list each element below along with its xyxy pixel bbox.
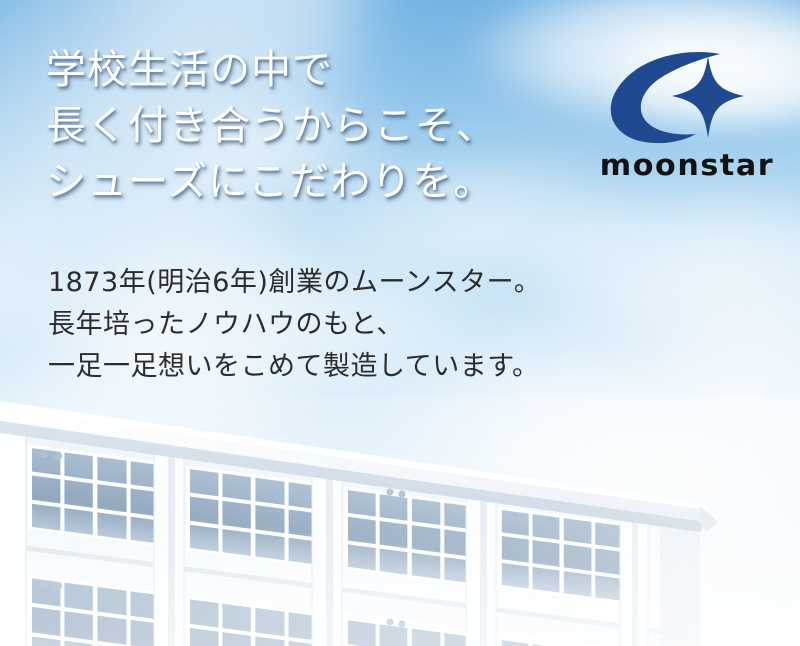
- school-building-photo: [0, 396, 800, 646]
- moonstar-hero-banner: 学校生活の中で 長く付き合うからこそ、 シューズにこだわりを。 1873年(明治…: [0, 0, 800, 646]
- school-building-illustration: [0, 396, 800, 646]
- atmospheric-haze: [0, 396, 800, 646]
- body-line-1: 1873年(明治6年)創業のムーンスター。: [48, 262, 541, 304]
- headline-line-1: 学校生活の中で: [46, 42, 497, 98]
- moonstar-wordmark: moonstar: [588, 150, 786, 180]
- headline: 学校生活の中で 長く付き合うからこそ、 シューズにこだわりを。: [46, 42, 497, 210]
- moonstar-logo: moonstar: [592, 48, 782, 180]
- headline-line-2: 長く付き合うからこそ、: [46, 98, 497, 154]
- body-line-3: 一足一足想いをこめて製造しています。: [48, 346, 541, 388]
- crescent-moon-and-star-icon: [592, 48, 782, 148]
- body-copy: 1873年(明治6年)創業のムーンスター。 長年培ったノウハウのもと、 一足一足…: [48, 262, 541, 388]
- four-point-star-shape: [672, 56, 744, 138]
- headline-line-3: シューズにこだわりを。: [46, 154, 497, 210]
- cloud: [520, 180, 800, 350]
- body-line-2: 長年培ったノウハウのもと、: [48, 304, 541, 346]
